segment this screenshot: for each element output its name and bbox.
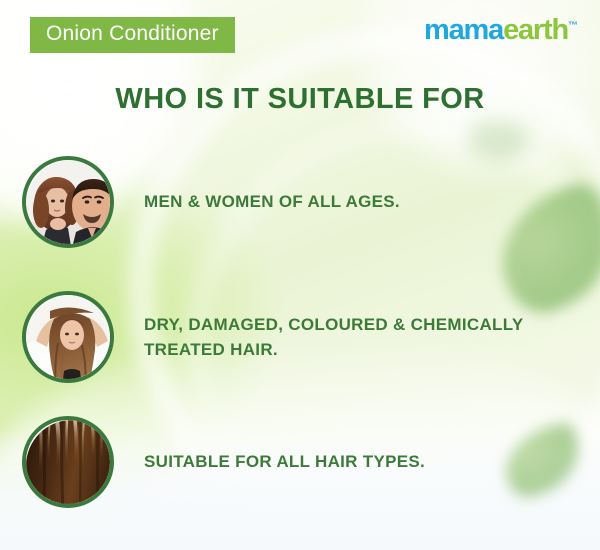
list-item: SUITABLE FOR ALL HAIR TYPES. xyxy=(22,416,582,508)
brand-logo: mamaearth™ xyxy=(424,16,578,45)
list-item-line: MEN & WOMEN OF ALL AGES. xyxy=(144,189,400,215)
list-item-text: MEN & WOMEN OF ALL AGES. xyxy=(144,189,400,215)
trademark-icon: ™ xyxy=(568,20,578,31)
damaged-hair-photo xyxy=(22,291,114,383)
hair-strands-photo-art xyxy=(26,420,110,504)
list-item-line: SUITABLE FOR ALL HAIR TYPES. xyxy=(144,449,425,475)
couple-photo-art xyxy=(26,160,110,244)
list-item-line: TREATED HAIR. xyxy=(144,337,523,363)
onion-conditioner-banner: Onion Conditioner mamaearth™ WHO IS IT S… xyxy=(0,0,600,550)
logo-text-earth: earth xyxy=(503,14,568,46)
hair-strands-photo xyxy=(22,416,114,508)
couple-photo xyxy=(22,156,114,248)
list-item: DRY, DAMAGED, COLOURED & CHEMICALLY TREA… xyxy=(22,291,582,383)
list-item-text: DRY, DAMAGED, COLOURED & CHEMICALLY TREA… xyxy=(144,312,523,363)
page-title: WHO IS IT SUITABLE FOR xyxy=(0,84,600,116)
logo-text-mama: mama xyxy=(424,14,503,46)
list-item-line: DRY, DAMAGED, COLOURED & CHEMICALLY xyxy=(144,312,523,338)
list-item: MEN & WOMEN OF ALL AGES. xyxy=(22,156,582,248)
damaged-hair-photo-art xyxy=(26,295,110,379)
product-tag: Onion Conditioner xyxy=(30,17,235,53)
list-item-text: SUITABLE FOR ALL HAIR TYPES. xyxy=(144,449,425,475)
